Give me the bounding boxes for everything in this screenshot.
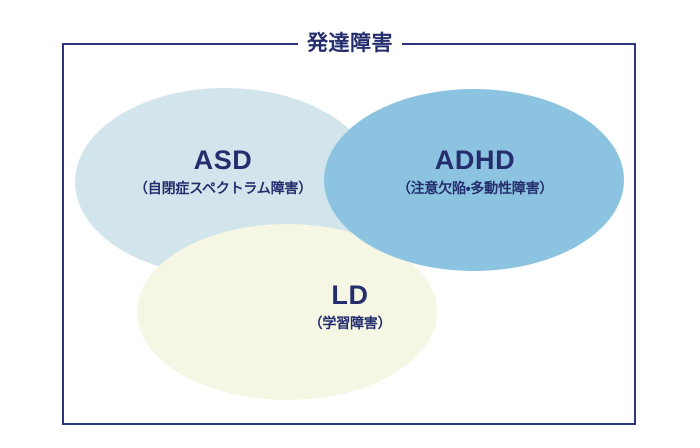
venn-stage (62, 43, 636, 425)
venn-svg (62, 43, 636, 425)
developmental-disorders-venn-diagram: ASD （自閉症スペクトラム障害） ADHD （注意欠陥・多動性障害） LD （… (0, 0, 700, 448)
venn-ellipse-adhd (324, 89, 624, 271)
